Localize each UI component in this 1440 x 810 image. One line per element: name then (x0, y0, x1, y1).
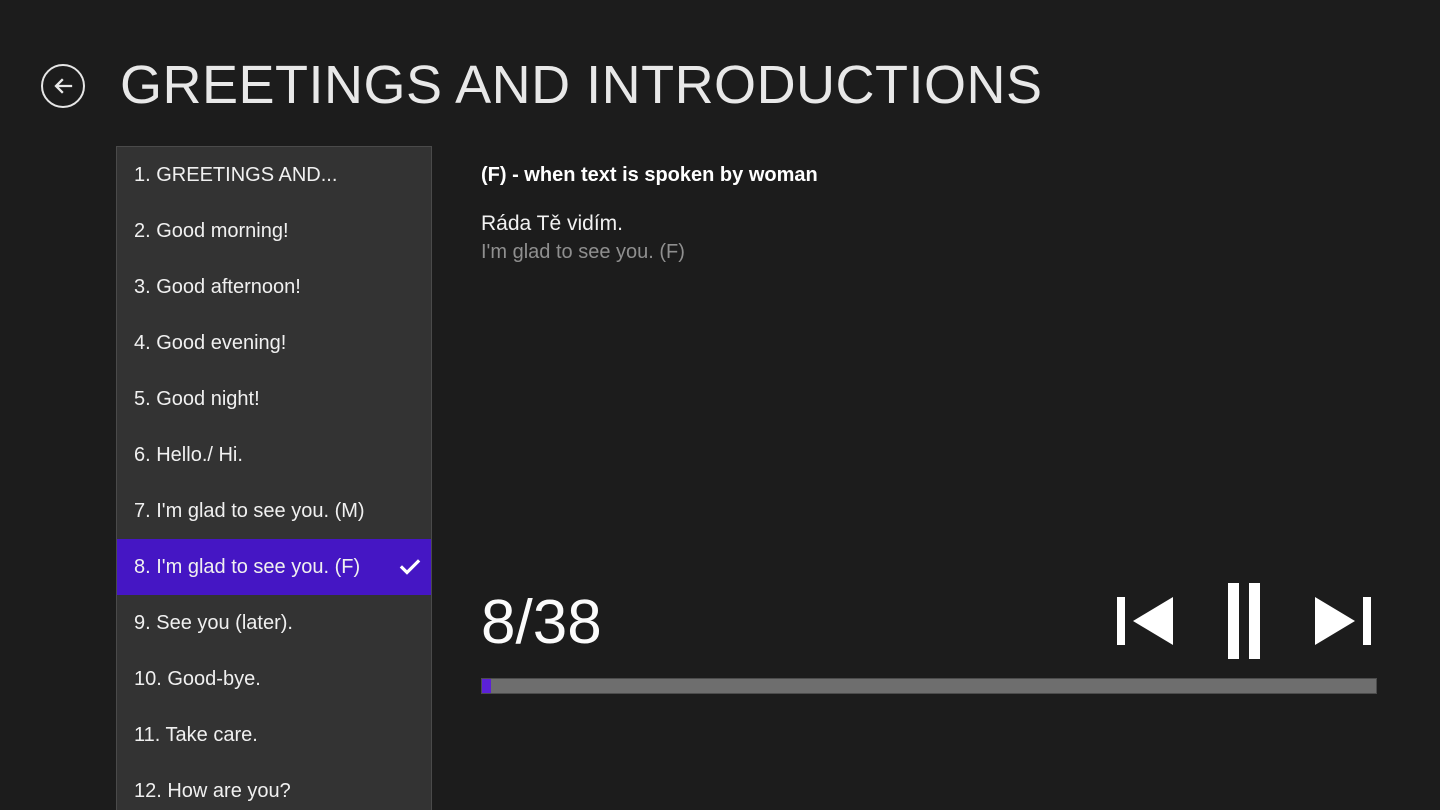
list-item[interactable]: 9. See you (later). (117, 595, 431, 651)
phrase-translation-text: I'm glad to see you. (F) (481, 241, 685, 264)
progress-bar[interactable] (481, 678, 1377, 694)
list-item-label: 6. Hello./ Hi. (134, 444, 423, 467)
previous-button[interactable] (1111, 581, 1181, 663)
back-button[interactable] (41, 64, 85, 108)
page-title: GREETINGS AND INTRODUCTIONS (120, 49, 1043, 121)
list-item-label: 11. Take care. (134, 724, 423, 747)
list-item-label: 5. Good night! (134, 388, 423, 411)
list-item[interactable]: 6. Hello./ Hi. (117, 427, 431, 483)
list-item-label: 3. Good afternoon! (134, 276, 423, 299)
arrow-left-circle-icon (50, 73, 76, 99)
list-item-label: 7. I'm glad to see you. (M) (134, 500, 423, 523)
list-item-label: 2. Good morning! (134, 220, 423, 243)
list-item[interactable]: 10. Good-bye. (117, 651, 431, 707)
list-item[interactable]: 11. Take care. (117, 707, 431, 763)
check-icon (399, 556, 421, 578)
list-item-label: 4. Good evening! (134, 332, 423, 355)
list-item-selected[interactable]: 8. I'm glad to see you. (F) (117, 539, 431, 595)
phrase-native-text: Ráda Tě vidím. (481, 212, 623, 236)
track-counter: 8/38 (481, 575, 602, 671)
app-header: GREETINGS AND INTRODUCTIONS (0, 0, 1440, 140)
pause-icon (1221, 580, 1267, 665)
list-item[interactable]: 4. Good evening! (117, 315, 431, 371)
list-item[interactable]: 2. Good morning! (117, 203, 431, 259)
transport-controls (1111, 581, 1377, 663)
list-item[interactable]: 1. GREETINGS AND... (117, 147, 431, 203)
audio-player: 8/38 (481, 575, 1377, 690)
skip-previous-icon (1111, 585, 1181, 660)
gender-note: (F) - when text is spoken by woman (481, 164, 818, 187)
list-item-label: 9. See you (later). (134, 612, 423, 635)
list-item-label: 8. I'm glad to see you. (F) (134, 556, 399, 579)
list-item-label: 1. GREETINGS AND... (134, 164, 423, 187)
list-item-label: 10. Good-bye. (134, 668, 423, 691)
next-button[interactable] (1307, 581, 1377, 663)
pause-button[interactable] (1221, 581, 1267, 663)
list-item-label: 12. How are you? (134, 780, 423, 803)
list-item[interactable]: 3. Good afternoon! (117, 259, 431, 315)
list-item[interactable]: 12. How are you? (117, 763, 431, 810)
progress-bar-fill (482, 679, 491, 693)
phrase-list[interactable]: 1. GREETINGS AND... 2. Good morning! 3. … (116, 146, 432, 810)
list-item[interactable]: 7. I'm glad to see you. (M) (117, 483, 431, 539)
skip-next-icon (1307, 585, 1377, 660)
list-item[interactable]: 5. Good night! (117, 371, 431, 427)
phrase-detail-panel: (F) - when text is spoken by woman Ráda … (481, 146, 1391, 810)
